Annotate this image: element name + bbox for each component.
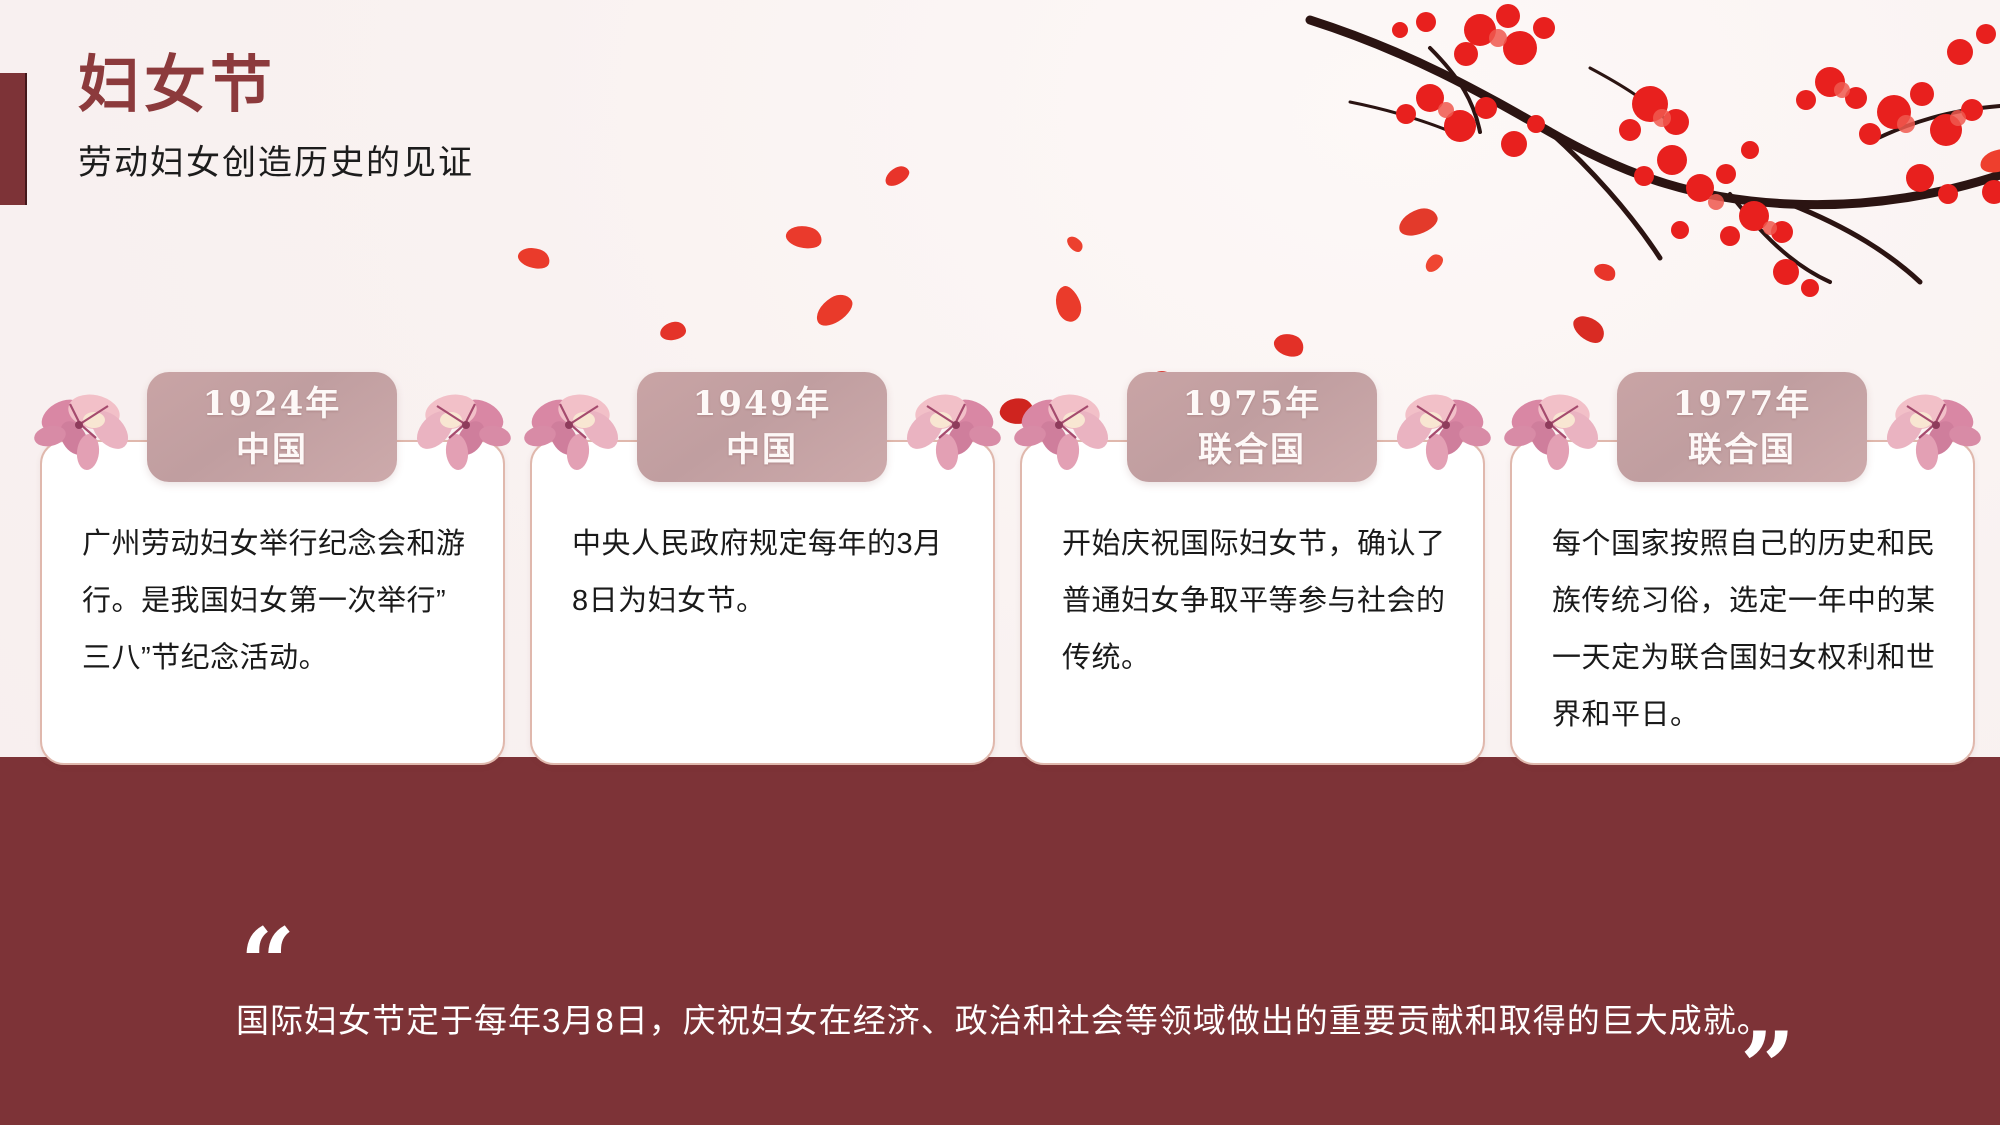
timeline-cards: 1924年 中国 广州劳动妇女举行纪念会和游行。是我国妇女第一次举行”三八”节纪… bbox=[0, 330, 2000, 890]
timeline-card-region: 联合国 bbox=[1688, 427, 1796, 473]
timeline-card-text: 中央人民政府规定每年的3月8日为妇女节。 bbox=[572, 516, 959, 630]
timeline-card-region: 联合国 bbox=[1198, 427, 1306, 473]
title-accent-bar bbox=[0, 73, 27, 205]
title-block: 妇女节 劳动妇女创造历史的见证 bbox=[78, 52, 474, 184]
cherry-blossom-icon bbox=[500, 380, 650, 472]
timeline-card-badge: 1924年 中国 bbox=[147, 372, 397, 482]
timeline-card[interactable]: 1977年 联合国 每个国家按照自己的历史和民族传统习俗，选定一年中的某一天定为… bbox=[1510, 440, 1975, 765]
timeline-card-text: 每个国家按照自己的历史和民族传统习俗，选定一年中的某一天定为联合国妇女权利和世界… bbox=[1552, 516, 1939, 744]
cherry-blossom-icon bbox=[1480, 380, 1630, 472]
cherry-blossom-icon bbox=[1855, 380, 2000, 472]
cherry-blossom-icon bbox=[990, 380, 1140, 472]
quote-block: “ 国际妇女节定于每年3月8日，庆祝妇女在经济、政治和社会等领域做出的重要贡献和… bbox=[0, 880, 2000, 1120]
timeline-card-region: 中国 bbox=[726, 427, 798, 473]
cherry-blossom-icon bbox=[10, 380, 160, 472]
timeline-card[interactable]: 1949年 中国 中央人民政府规定每年的3月8日为妇女节。 bbox=[530, 440, 995, 765]
timeline-card-year: 1924年 bbox=[203, 381, 342, 427]
cherry-blossom-icon bbox=[385, 380, 535, 472]
timeline-card-year: 1975年 bbox=[1183, 381, 1322, 427]
timeline-card-year: 1949年 bbox=[693, 381, 832, 427]
timeline-card-badge: 1975年 联合国 bbox=[1127, 372, 1377, 482]
page-title: 妇女节 bbox=[78, 52, 474, 117]
timeline-card-text: 广州劳动妇女举行纪念会和游行。是我国妇女第一次举行”三八”节纪念活动。 bbox=[82, 516, 469, 687]
plum-blossom-branch-icon bbox=[1230, 0, 2000, 322]
timeline-card[interactable]: 1975年 联合国 开始庆祝国际妇女节，确认了普通妇女争取平等参与社会的传统。 bbox=[1020, 440, 1485, 765]
timeline-card-year: 1977年 bbox=[1673, 381, 1812, 427]
quote-text: 国际妇女节定于每年3月8日，庆祝妇女在经济、政治和社会等领域做出的重要贡献和取得… bbox=[236, 998, 1796, 1044]
timeline-card-region: 中国 bbox=[236, 427, 308, 473]
timeline-card-text: 开始庆祝国际妇女节，确认了普通妇女争取平等参与社会的传统。 bbox=[1062, 516, 1449, 687]
page-subtitle: 劳动妇女创造历史的见证 bbox=[78, 135, 474, 184]
slide: 妇女节 劳动妇女创造历史的见证 bbox=[0, 0, 2000, 1125]
timeline-card[interactable]: 1924年 中国 广州劳动妇女举行纪念会和游行。是我国妇女第一次举行”三八”节纪… bbox=[40, 440, 505, 765]
cherry-blossom-icon bbox=[1365, 380, 1515, 472]
timeline-card-badge: 1949年 中国 bbox=[637, 372, 887, 482]
cherry-blossom-icon bbox=[875, 380, 1025, 472]
timeline-card-badge: 1977年 联合国 bbox=[1617, 372, 1867, 482]
quote-close-icon: ” bbox=[1740, 1020, 1795, 1116]
